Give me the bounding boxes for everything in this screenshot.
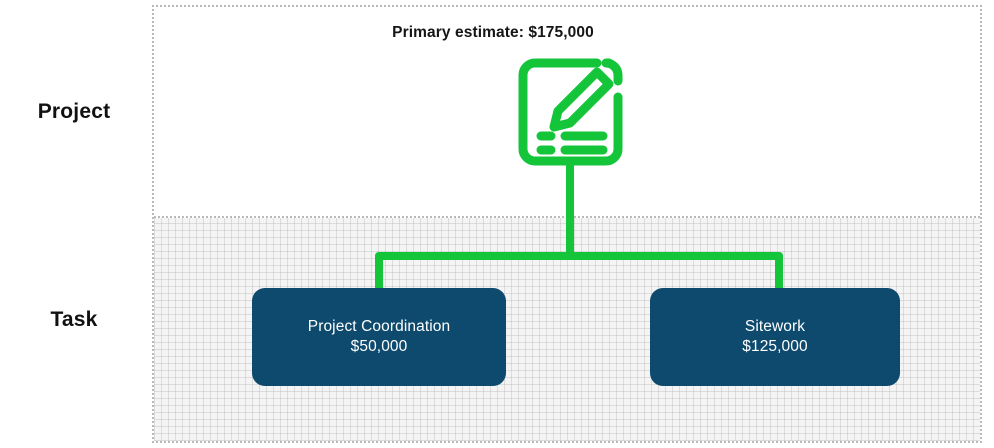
edit-document-icon	[513, 53, 628, 171]
connector-horizontal-bar	[375, 252, 783, 260]
task-node[interactable]: Sitework $125,000	[650, 288, 900, 386]
row-label-project: Project	[0, 101, 148, 122]
task-amount: $125,000	[742, 337, 807, 357]
primary-estimate-title: Primary estimate: $175,000	[0, 24, 990, 42]
row-label-task: Task	[0, 309, 148, 330]
estimate-hierarchy-diagram: Project Task Primary estimate: $175,000 …	[0, 0, 994, 448]
project-node[interactable]	[513, 53, 628, 171]
task-amount: $50,000	[351, 337, 408, 357]
task-node[interactable]: Project Coordination $50,000	[252, 288, 506, 386]
task-name: Sitework	[745, 317, 805, 337]
task-name: Project Coordination	[308, 317, 450, 337]
connector-project-stem	[566, 160, 574, 258]
